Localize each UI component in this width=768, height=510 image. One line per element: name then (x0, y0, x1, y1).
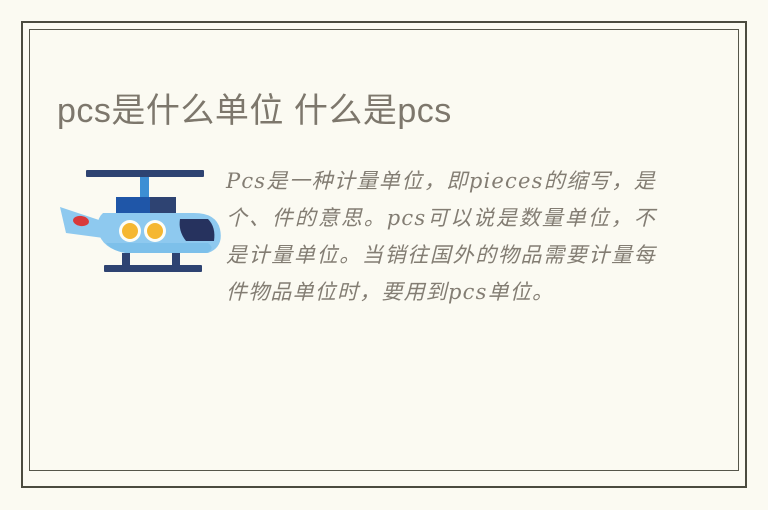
article-body: Pcs是一种计量单位，即pieces的缩写，是个、件的意思。pcs可以说是数量单… (226, 163, 656, 311)
helicopter-illustration (56, 161, 236, 281)
body-paragraph: Pcs是一种计量单位，即pieces的缩写，是个、件的意思。pcs可以说是数量单… (226, 163, 656, 311)
page-title: pcs是什么单位 什么是pcs (57, 89, 697, 133)
article-card: pcs是什么单位 什么是pcs (0, 0, 768, 510)
content-area: Pcs是一种计量单位，即pieces的缩写，是个、件的意思。pcs可以说是数量单… (40, 155, 730, 435)
